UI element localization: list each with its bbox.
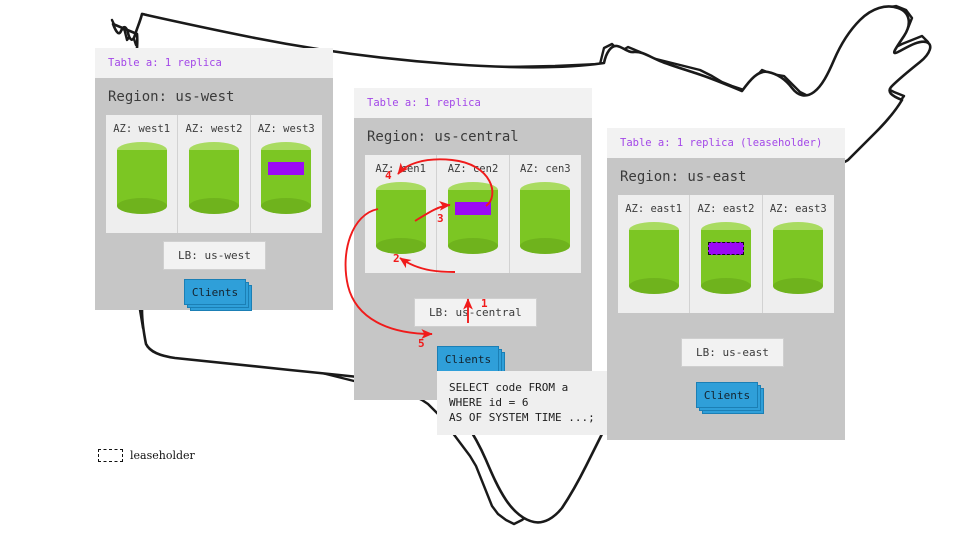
node-cylinder-cen1[interactable] <box>376 182 426 254</box>
region-panel-us-east: Table a: 1 replica (leaseholder) Region:… <box>607 128 845 440</box>
region-panel-us-central: Table a: 1 replica Region: us-central AZ… <box>354 88 592 400</box>
arrow-label-3: 3 <box>437 212 444 225</box>
az-label-west3: AZ: west3 <box>251 123 322 135</box>
arrow-label-2: 2 <box>393 252 400 265</box>
region-header-us-central: Table a: 1 replica <box>354 88 592 118</box>
region-header-us-east: Table a: 1 replica (leaseholder) <box>607 128 845 158</box>
sql-query-note: SELECT code FROM a WHERE id = 6 AS OF SY… <box>437 371 607 435</box>
az-label-west1: AZ: west1 <box>106 123 177 135</box>
az-cell-east3[interactable]: AZ: east3 <box>762 195 834 313</box>
clients-stack-us-west[interactable]: Clients <box>184 279 254 313</box>
cylinder-bottom <box>448 238 498 254</box>
az-row-us-east: AZ: east1 AZ: east2 <box>618 195 834 313</box>
legend-leaseholder: leaseholder <box>98 449 195 462</box>
cylinder-bottom <box>117 198 167 214</box>
node-cylinder-east1[interactable] <box>629 222 679 294</box>
az-label-cen1: AZ: cen1 <box>365 163 436 175</box>
cylinder-bottom <box>189 198 239 214</box>
az-label-cen2: AZ: cen2 <box>437 163 508 175</box>
arrow-label-5: 5 <box>418 337 425 350</box>
clients-card-front[interactable]: Clients <box>696 382 758 408</box>
node-cylinder-west3[interactable] <box>261 142 311 214</box>
az-label-east3: AZ: east3 <box>763 203 834 215</box>
clients-card-front[interactable]: Clients <box>437 346 499 372</box>
az-cell-east1[interactable]: AZ: east1 <box>618 195 689 313</box>
az-cell-west1[interactable]: AZ: west1 <box>106 115 177 233</box>
az-cell-west2[interactable]: AZ: west2 <box>177 115 249 233</box>
arrow-label-4: 4 <box>385 169 392 182</box>
arrow-label-1: 1 <box>481 297 488 310</box>
node-cylinder-west1[interactable] <box>117 142 167 214</box>
region-title-us-west: Region: us-west <box>95 78 333 115</box>
az-label-cen3: AZ: cen3 <box>510 163 581 175</box>
cylinder-bottom <box>701 278 751 294</box>
clients-card-front[interactable]: Clients <box>184 279 246 305</box>
replica-block-cen2 <box>455 202 491 215</box>
node-cylinder-cen2[interactable] <box>448 182 498 254</box>
legend-label: leaseholder <box>130 449 195 462</box>
cylinder-bottom <box>773 278 823 294</box>
az-label-west2: AZ: west2 <box>178 123 249 135</box>
az-row-us-west: AZ: west1 AZ: west2 AZ <box>106 115 322 233</box>
region-panel-us-west: Table a: 1 replica Region: us-west AZ: w… <box>95 48 333 310</box>
az-cell-west3[interactable]: AZ: west3 <box>250 115 322 233</box>
cylinder-bottom <box>629 278 679 294</box>
az-cell-east2[interactable]: AZ: east2 <box>689 195 761 313</box>
az-cell-cen3[interactable]: AZ: cen3 <box>509 155 581 273</box>
region-header-us-west: Table a: 1 replica <box>95 48 333 78</box>
load-balancer-us-west[interactable]: LB: us-west <box>163 241 266 270</box>
node-cylinder-cen3[interactable] <box>520 182 570 254</box>
leaseholder-replica-block-east2 <box>708 242 744 255</box>
clients-stack-us-east[interactable]: Clients <box>696 382 766 416</box>
node-cylinder-east3[interactable] <box>773 222 823 294</box>
diagram-canvas: Table a: 1 replica Region: us-west AZ: w… <box>0 0 960 540</box>
region-title-us-central: Region: us-central <box>354 118 592 155</box>
az-cell-cen2[interactable]: AZ: cen2 <box>436 155 508 273</box>
cylinder-bottom <box>376 238 426 254</box>
cylinder-bottom <box>520 238 570 254</box>
az-label-east2: AZ: east2 <box>690 203 761 215</box>
load-balancer-us-central[interactable]: LB: us-central <box>414 298 537 327</box>
region-title-us-east: Region: us-east <box>607 158 845 195</box>
az-label-east1: AZ: east1 <box>618 203 689 215</box>
node-cylinder-west2[interactable] <box>189 142 239 214</box>
load-balancer-us-east[interactable]: LB: us-east <box>681 338 784 367</box>
az-cell-cen1[interactable]: AZ: cen1 <box>365 155 436 273</box>
cylinder-bottom <box>261 198 311 214</box>
replica-block-west3 <box>268 162 304 175</box>
dashed-rect-icon <box>98 449 123 462</box>
node-cylinder-east2[interactable] <box>701 222 751 294</box>
